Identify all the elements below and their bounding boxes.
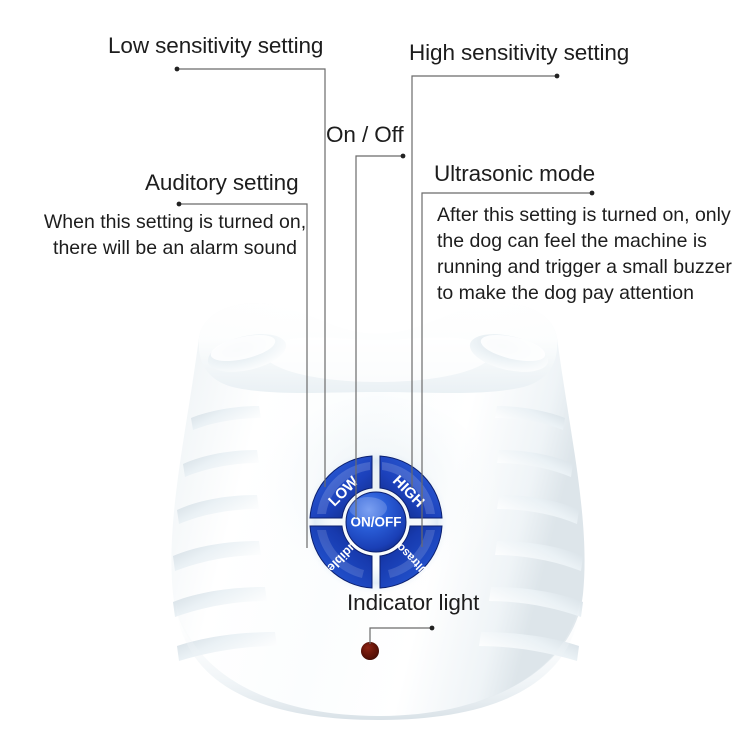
- button-cluster[interactable]: LOW HIGH Audible Ultrasonic ON/OFF: [304, 450, 448, 594]
- product-diagram: LOW HIGH Audible Ultrasonic ON/OFF: [0, 0, 750, 750]
- desc-ultrasonic: After this setting is turned on, only th…: [437, 203, 737, 307]
- button-on-off-label: ON/OFF: [351, 515, 402, 530]
- leader-dot-on-off: [401, 154, 406, 159]
- label-low-sensitivity: Low sensitivity setting: [108, 34, 323, 58]
- desc-auditory: When this setting is turned on, there wi…: [40, 210, 310, 262]
- indicator-light-led: [361, 642, 379, 660]
- leader-dot-auditory: [177, 202, 182, 207]
- desc-ultrasonic-line-2: the dog can feel the machine is: [437, 229, 737, 255]
- label-indicator-light: Indicator light: [347, 591, 479, 615]
- leader-dot-high-sensitivity: [555, 74, 560, 79]
- label-high-sensitivity: High sensitivity setting: [409, 41, 629, 65]
- desc-ultrasonic-line-4: to make the dog pay attention: [437, 281, 737, 307]
- label-ultrasonic: Ultrasonic mode: [434, 162, 595, 186]
- desc-ultrasonic-line-3: running and trigger a small buzzer: [437, 255, 737, 281]
- leader-dot-low-sensitivity: [175, 67, 180, 72]
- desc-ultrasonic-line-1: After this setting is turned on, only: [437, 203, 737, 229]
- desc-auditory-line-1: When this setting is turned on,: [40, 210, 310, 236]
- desc-auditory-line-2: there will be an alarm sound: [40, 236, 310, 262]
- leader-dot-ultrasonic: [590, 191, 595, 196]
- label-auditory: Auditory setting: [145, 171, 298, 195]
- label-on-off: On / Off: [326, 123, 404, 147]
